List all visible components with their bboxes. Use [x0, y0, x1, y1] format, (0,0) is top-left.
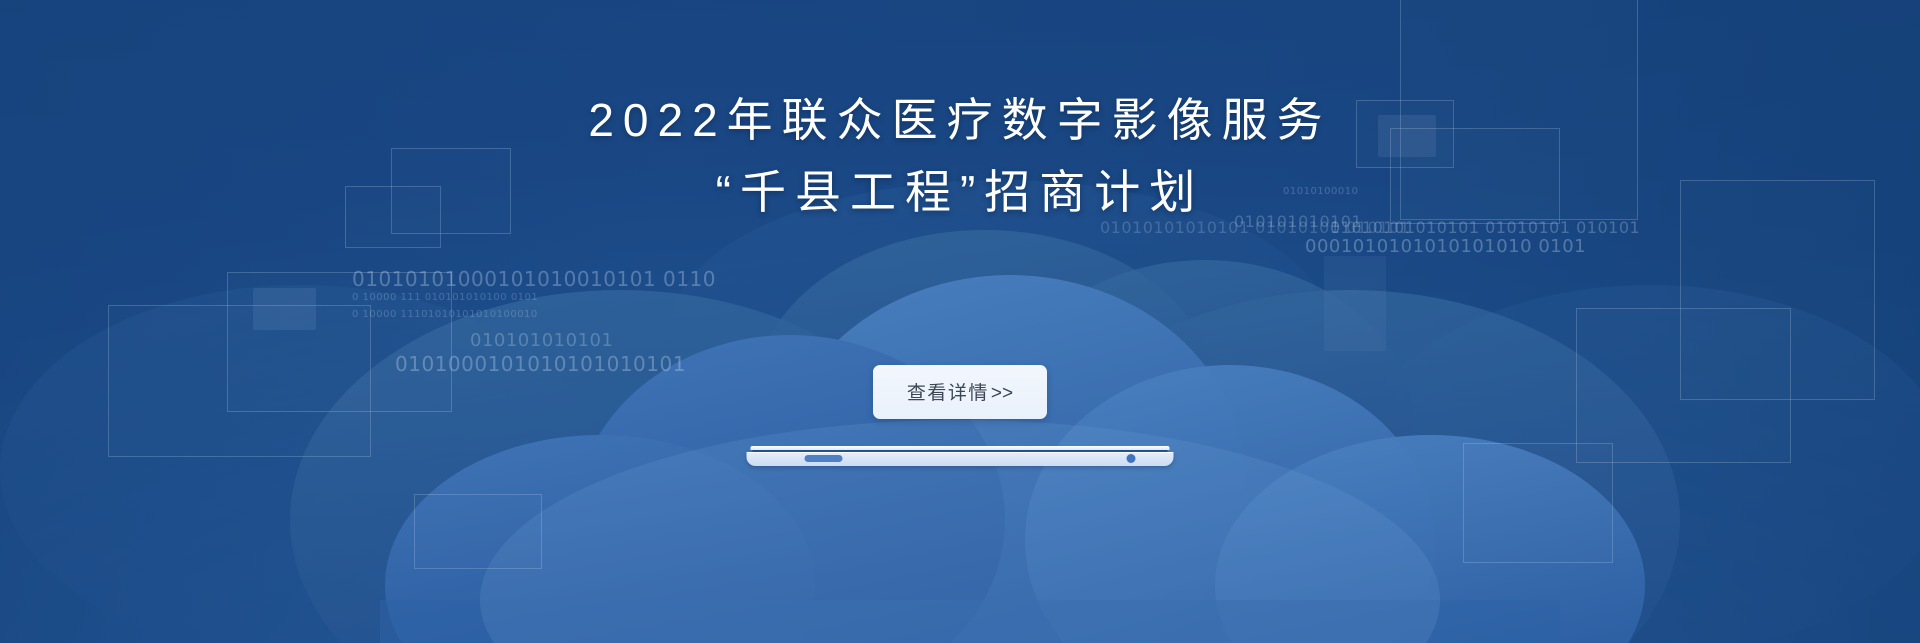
- cta-container: 查看详情>>: [0, 365, 1920, 419]
- view-details-button[interactable]: 查看详情>>: [873, 365, 1047, 419]
- decor-rect-right-f: [1463, 443, 1613, 563]
- camera-dot-icon: [1127, 454, 1136, 463]
- decor-rect-bottom-left: [414, 494, 542, 569]
- view-details-label: 查看详情: [907, 383, 989, 404]
- decor-rect-left-fill: [253, 288, 316, 330]
- laptop-graphic: [747, 446, 1174, 472]
- double-chevron-right-icon: >>: [991, 383, 1013, 404]
- headline-line-2: “千县工程”招商计划: [0, 156, 1920, 228]
- speaker-notch-icon: [805, 455, 843, 462]
- promo-banner: 01010101000101010010101 0110 0 10000 111…: [0, 0, 1920, 643]
- decor-rect-right-fill-2: [1324, 256, 1386, 351]
- headline-line-1: 2022年联众医疗数字影像服务: [0, 84, 1920, 156]
- page-title: 2022年联众医疗数字影像服务 “千县工程”招商计划: [0, 84, 1920, 228]
